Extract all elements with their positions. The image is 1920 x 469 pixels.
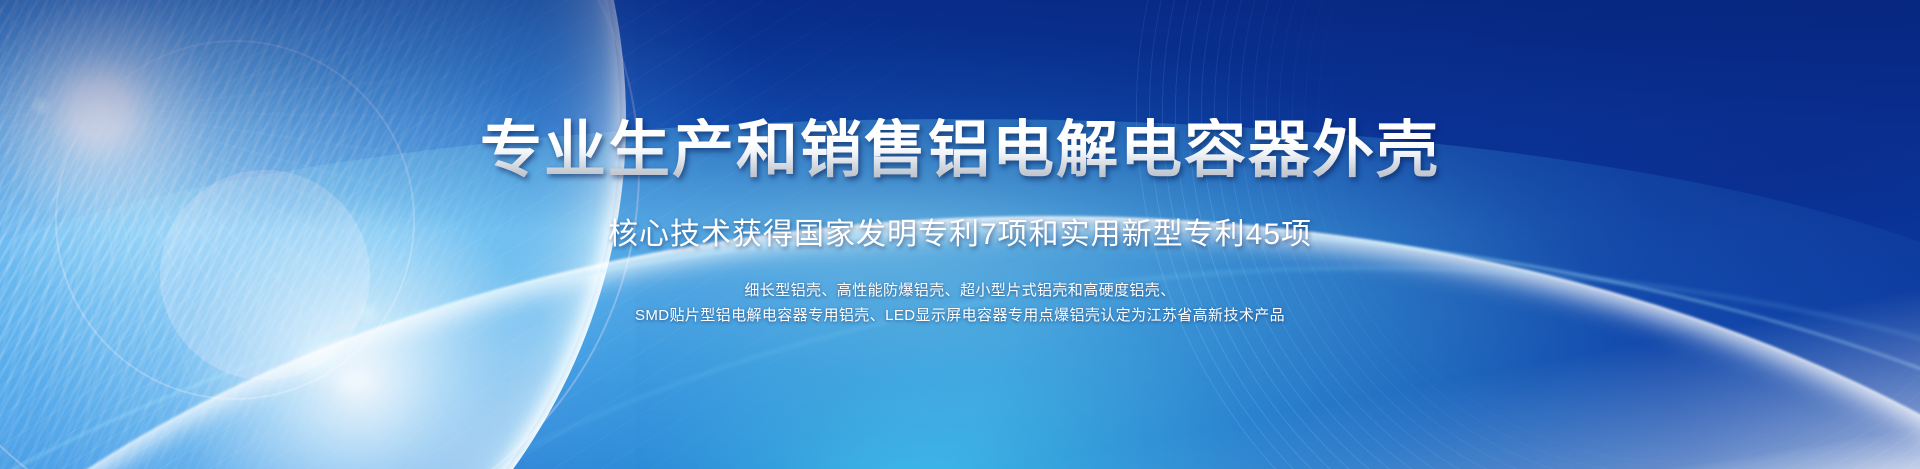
banner-headline: 专业生产和销售铝电解电容器外壳 — [480, 118, 1440, 185]
banner-subheadline: 核心技术获得国家发明专利7项和实用新型专利45项 — [608, 209, 1312, 253]
banner-description-line-2: SMD贴片型铝电解电容器专用铝壳、LED显示屏电容器专用点爆铝壳认定为江苏省高新… — [635, 304, 1285, 327]
banner-text-block: 专业生产和销售铝电解电容器外壳 核心技术获得国家发明专利7项和实用新型专利45项… — [0, 0, 1920, 469]
banner-description-line-1: 细长型铝壳、高性能防爆铝壳、超小型片式铝壳和高硬度铝壳、 — [744, 279, 1175, 302]
hero-banner: 专业生产和销售铝电解电容器外壳 核心技术获得国家发明专利7项和实用新型专利45项… — [0, 0, 1920, 469]
